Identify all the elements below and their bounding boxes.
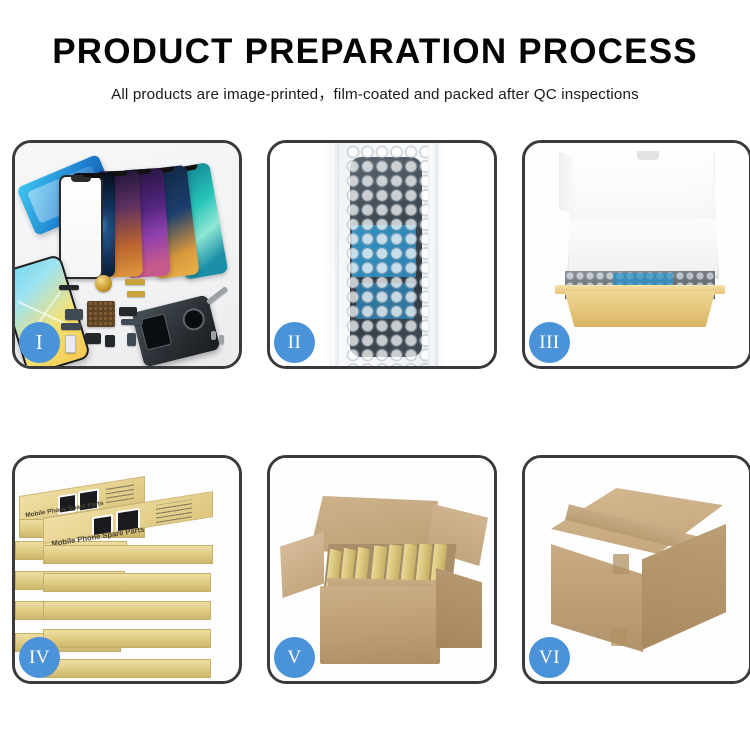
step-badge-1: I bbox=[19, 322, 60, 363]
phone-chassis-icon bbox=[131, 294, 220, 366]
page-title: PRODUCT PREPARATION PROCESS bbox=[0, 34, 750, 71]
bubble-outlines bbox=[346, 145, 428, 366]
bag-seam-left bbox=[332, 143, 339, 366]
part-screw-a-icon bbox=[211, 331, 216, 340]
carton-seam-upper bbox=[613, 554, 629, 574]
copper-coil-icon bbox=[95, 275, 112, 292]
spare-parts-box-r5 bbox=[43, 646, 209, 678]
box-front-face bbox=[43, 659, 211, 678]
step-card-1: I bbox=[12, 140, 242, 369]
bubble-wrap-bag-icon bbox=[332, 143, 438, 366]
part-sim-tray-icon bbox=[65, 335, 76, 353]
chip-grid-icon bbox=[87, 301, 115, 327]
part-flex-cable-a-icon bbox=[125, 279, 145, 285]
box-print-spec-lines bbox=[106, 483, 134, 503]
foam-lining-icon bbox=[569, 219, 717, 275]
step-badge-6: VI bbox=[529, 637, 570, 678]
screen-glass-panel-icon bbox=[59, 175, 103, 279]
box-print-spec-lines bbox=[156, 499, 192, 523]
sealed-carton-left-face bbox=[551, 544, 643, 652]
step-badge-5: V bbox=[274, 637, 315, 678]
header: PRODUCT PREPARATION PROCESS All products… bbox=[0, 0, 750, 104]
spare-parts-box-front: Mobile Phone Spare Parts bbox=[43, 518, 211, 564]
bag-seam-right bbox=[431, 143, 438, 366]
part-bracket-icon bbox=[65, 309, 83, 320]
page-subtitle: All products are image-printed，film-coat… bbox=[0, 82, 750, 104]
step-card-6: VI bbox=[522, 455, 750, 684]
step-badge-4: IV bbox=[19, 637, 60, 678]
step-card-3: III bbox=[522, 140, 750, 369]
kraft-box-body-icon bbox=[558, 291, 722, 327]
part-speaker-icon bbox=[85, 333, 101, 344]
step-badge-2: II bbox=[274, 322, 315, 363]
step-card-2: II bbox=[267, 140, 497, 369]
part-module-icon bbox=[119, 307, 137, 316]
spare-parts-box-r3 bbox=[43, 590, 209, 620]
spare-parts-box-r4 bbox=[43, 618, 209, 648]
part-earpiece-mesh-icon bbox=[59, 285, 79, 290]
step-badge-3: III bbox=[529, 322, 570, 363]
carton-seam-lower bbox=[611, 628, 627, 646]
step-card-5: V bbox=[267, 455, 497, 684]
step-card-4: Mobile Phone Spare Parts Mobile Phone Sp… bbox=[12, 455, 242, 684]
spare-parts-box-r2 bbox=[43, 562, 209, 592]
part-screw-b-icon bbox=[219, 335, 224, 344]
part-connector-icon bbox=[61, 323, 81, 330]
carton-front-face bbox=[320, 586, 440, 664]
part-camera-icon bbox=[105, 335, 115, 347]
carton-side-face bbox=[436, 568, 482, 648]
carton-flap-left bbox=[280, 532, 324, 598]
part-flex-cable-b-icon bbox=[127, 291, 145, 297]
part-button-icon bbox=[127, 333, 136, 346]
product-preparation-infographic: PRODUCT PREPARATION PROCESS All products… bbox=[0, 0, 750, 750]
steps-grid: I II bbox=[12, 140, 738, 684]
part-tweezers-icon bbox=[206, 286, 228, 305]
part-ribbon-icon bbox=[121, 319, 143, 325]
